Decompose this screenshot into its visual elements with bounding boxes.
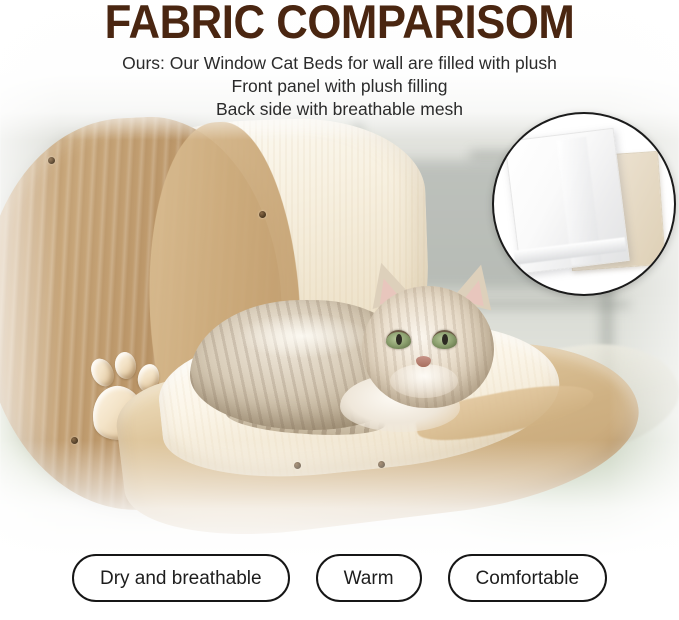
- kitten: [190, 268, 520, 458]
- heading-block: FABRIC COMPARISOM Ours: Our Window Cat B…: [0, 0, 679, 121]
- kitten-back-highlight: [238, 314, 368, 358]
- screw-icon: [259, 211, 266, 218]
- fabric-swatch-inset: [492, 112, 676, 296]
- subtitle: Ours: Our Window Cat Beds for wall are f…: [0, 44, 679, 121]
- badge-warm: Warm: [316, 554, 422, 602]
- feature-badge-row: Dry and breathable Warm Comfortable: [0, 554, 679, 602]
- page-title: FABRIC COMPARISOM: [24, 0, 655, 44]
- kitten-pupil-right: [442, 334, 448, 345]
- kitten-pupil-left: [396, 334, 402, 345]
- paw-toe: [87, 355, 119, 390]
- kitten-muzzle: [390, 364, 458, 398]
- subtitle-line-3: Back side with breathable mesh: [0, 98, 679, 121]
- badge-dry-and-breathable: Dry and breathable: [72, 554, 290, 602]
- fabric-comparison-poster: FABRIC COMPARISOM Ours: Our Window Cat B…: [0, 0, 679, 620]
- subtitle-line-2: Front panel with plush filling: [0, 75, 679, 98]
- badge-comfortable: Comfortable: [448, 554, 608, 602]
- subtitle-line-1: Ours: Our Window Cat Beds for wall are f…: [0, 52, 679, 75]
- paw-toe: [113, 351, 138, 381]
